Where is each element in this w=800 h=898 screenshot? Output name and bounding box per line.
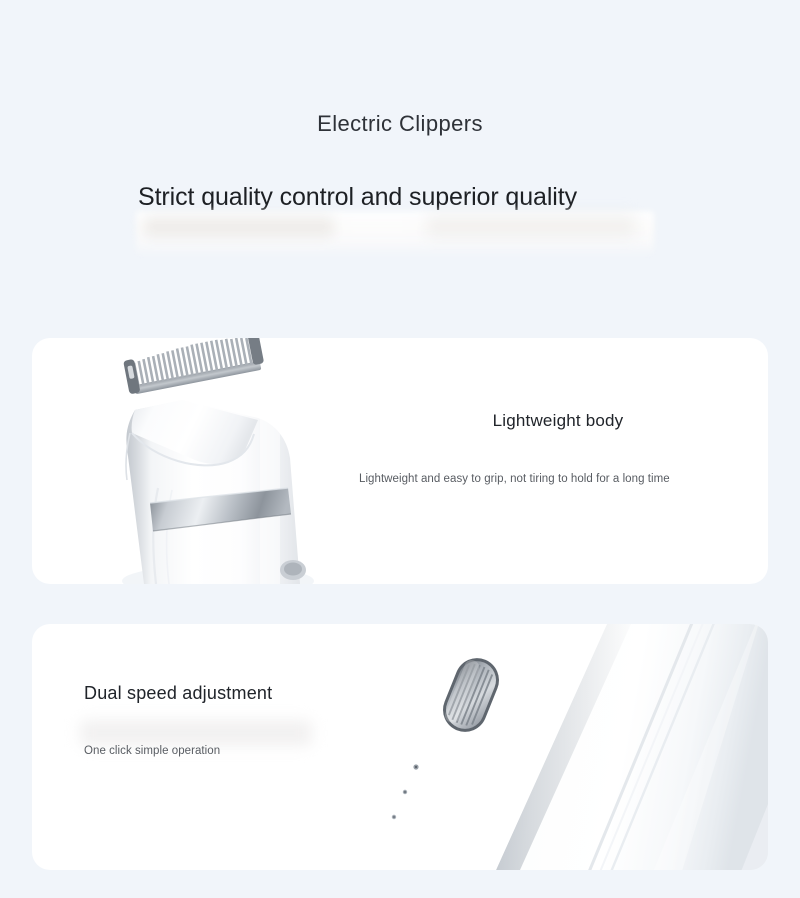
feature-card-dual-speed: Dual speed adjustment One click simple o…	[32, 624, 768, 870]
card-1-heading: Lightweight body	[373, 411, 743, 431]
erased-text-band	[136, 211, 654, 257]
feature-card-lightweight-body: Lightweight body Lightweight and easy to…	[32, 338, 768, 584]
card-2-text-block: Dual speed adjustment One click simple o…	[84, 683, 444, 760]
clipper-upright-image	[32, 338, 352, 584]
card-1-description: Lightweight and easy to grip, not tiring…	[359, 471, 694, 488]
page-title: Electric Clippers	[0, 111, 800, 137]
led-indicator-dots	[392, 764, 419, 819]
page-subtitle: Strict quality control and superior qual…	[138, 183, 668, 212]
card-1-text-block: Lightweight body Lightweight and easy to…	[343, 411, 743, 488]
page-header: Electric Clippers Strict quality control…	[0, 0, 800, 320]
product-detail-page: Electric Clippers Strict quality control…	[0, 0, 800, 898]
card-2-heading: Dual speed adjustment	[84, 683, 444, 704]
card-2-description: One click simple operation	[84, 743, 444, 760]
